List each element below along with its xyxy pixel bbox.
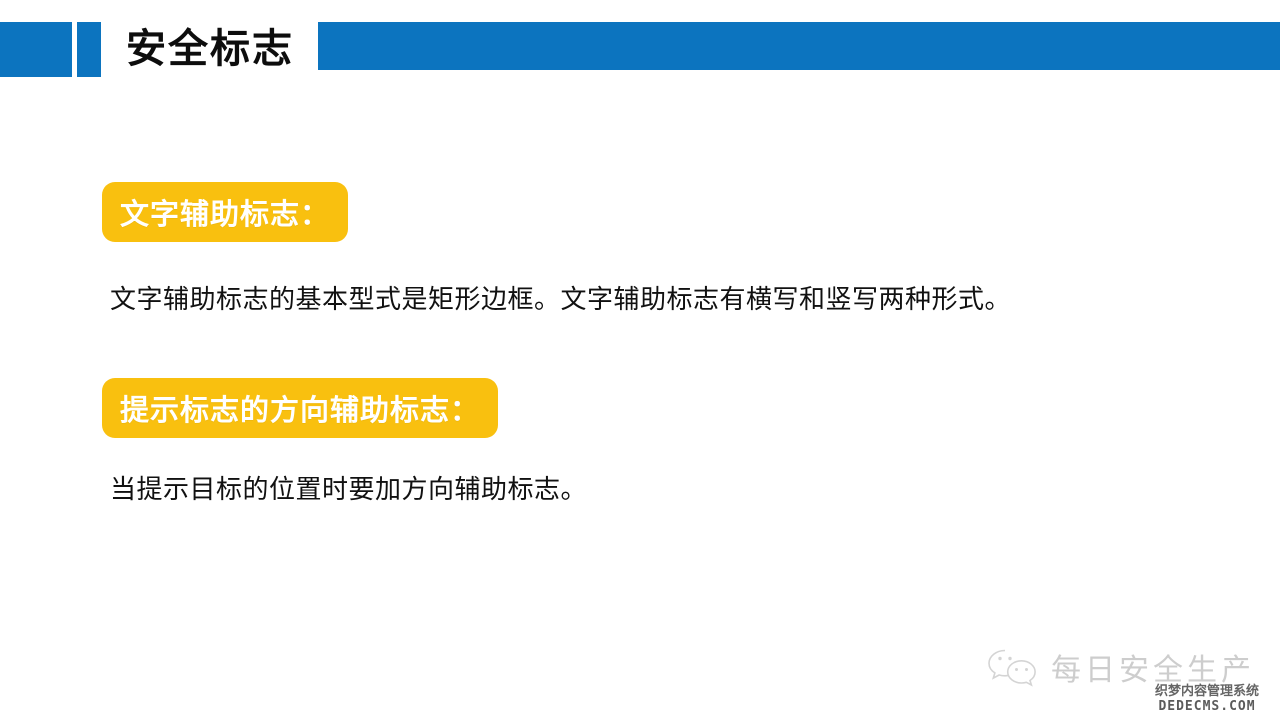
dedecms-watermark: 织梦内容管理系统 DEDECMS.COM <box>1141 684 1273 714</box>
slide-body: 文字辅助标志： 文字辅助标志的基本型式是矩形边框。文字辅助标志有横写和竖写两种形… <box>0 0 1280 720</box>
section-badge-2: 提示标志的方向辅助标志： <box>102 378 498 438</box>
section-paragraph-1: 文字辅助标志的基本型式是矩形边框。文字辅助标志有横写和竖写两种形式。 <box>110 279 1011 316</box>
wechat-icon <box>985 646 1041 688</box>
dedecms-watermark-cn: 织梦内容管理系统 <box>1141 684 1273 699</box>
dedecms-watermark-en: DEDECMS.COM <box>1141 699 1273 714</box>
slide-canvas: 安全标志 文字辅助标志： 文字辅助标志的基本型式是矩形边框。文字辅助标志有横写和… <box>0 0 1280 720</box>
wechat-watermark: 每日安全生产 <box>985 645 1255 689</box>
section-badge-1: 文字辅助标志： <box>102 182 348 242</box>
section-paragraph-2: 当提示目标的位置时要加方向辅助标志。 <box>110 469 587 506</box>
wechat-account-name: 每日安全生产 <box>1051 645 1255 689</box>
